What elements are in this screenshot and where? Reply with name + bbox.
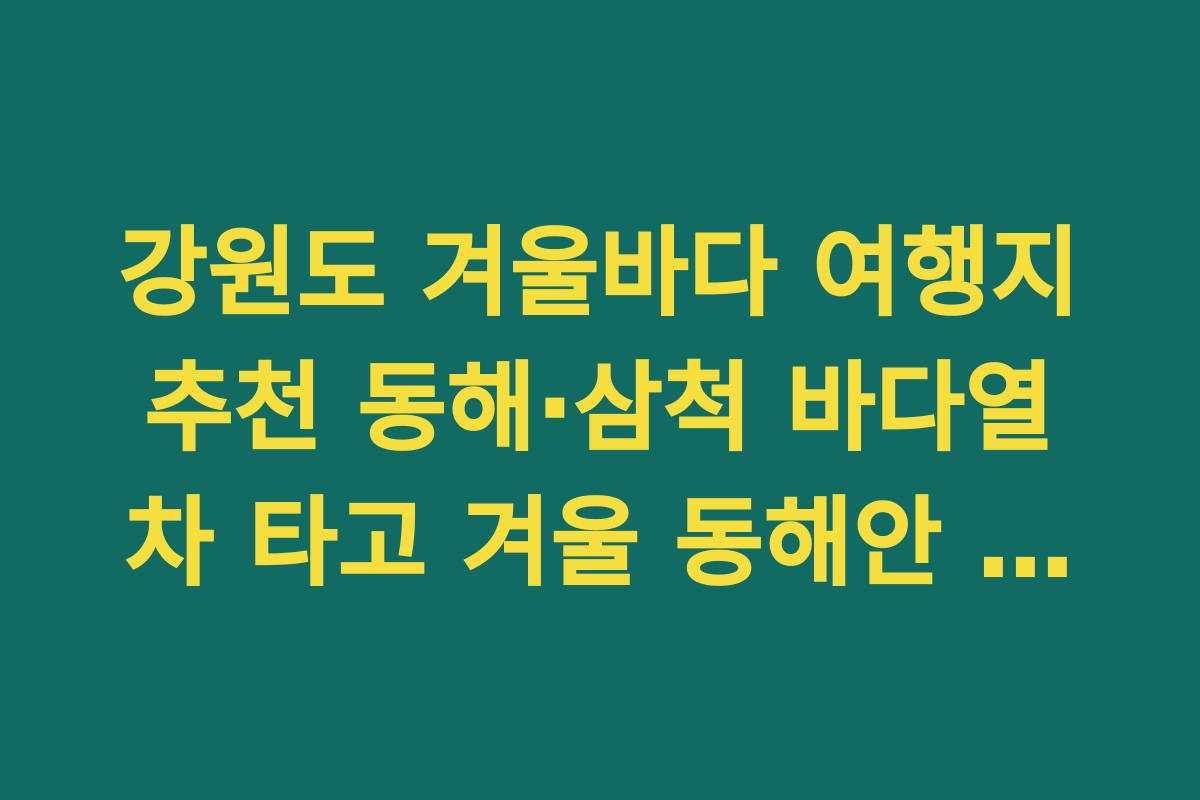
headline-line-2: 추천 동해·삼척 바다열	[95, 341, 1105, 476]
headline-line-3: 차 타고 겨울 동해안 …	[95, 476, 1105, 611]
headline-block: 강원도 겨울바다 여행지 추천 동해·삼척 바다열 차 타고 겨울 동해안 …	[95, 206, 1105, 611]
headline-line-1: 강원도 겨울바다 여행지	[95, 206, 1105, 341]
text-card: 강원도 겨울바다 여행지 추천 동해·삼척 바다열 차 타고 겨울 동해안 …	[0, 0, 1200, 800]
